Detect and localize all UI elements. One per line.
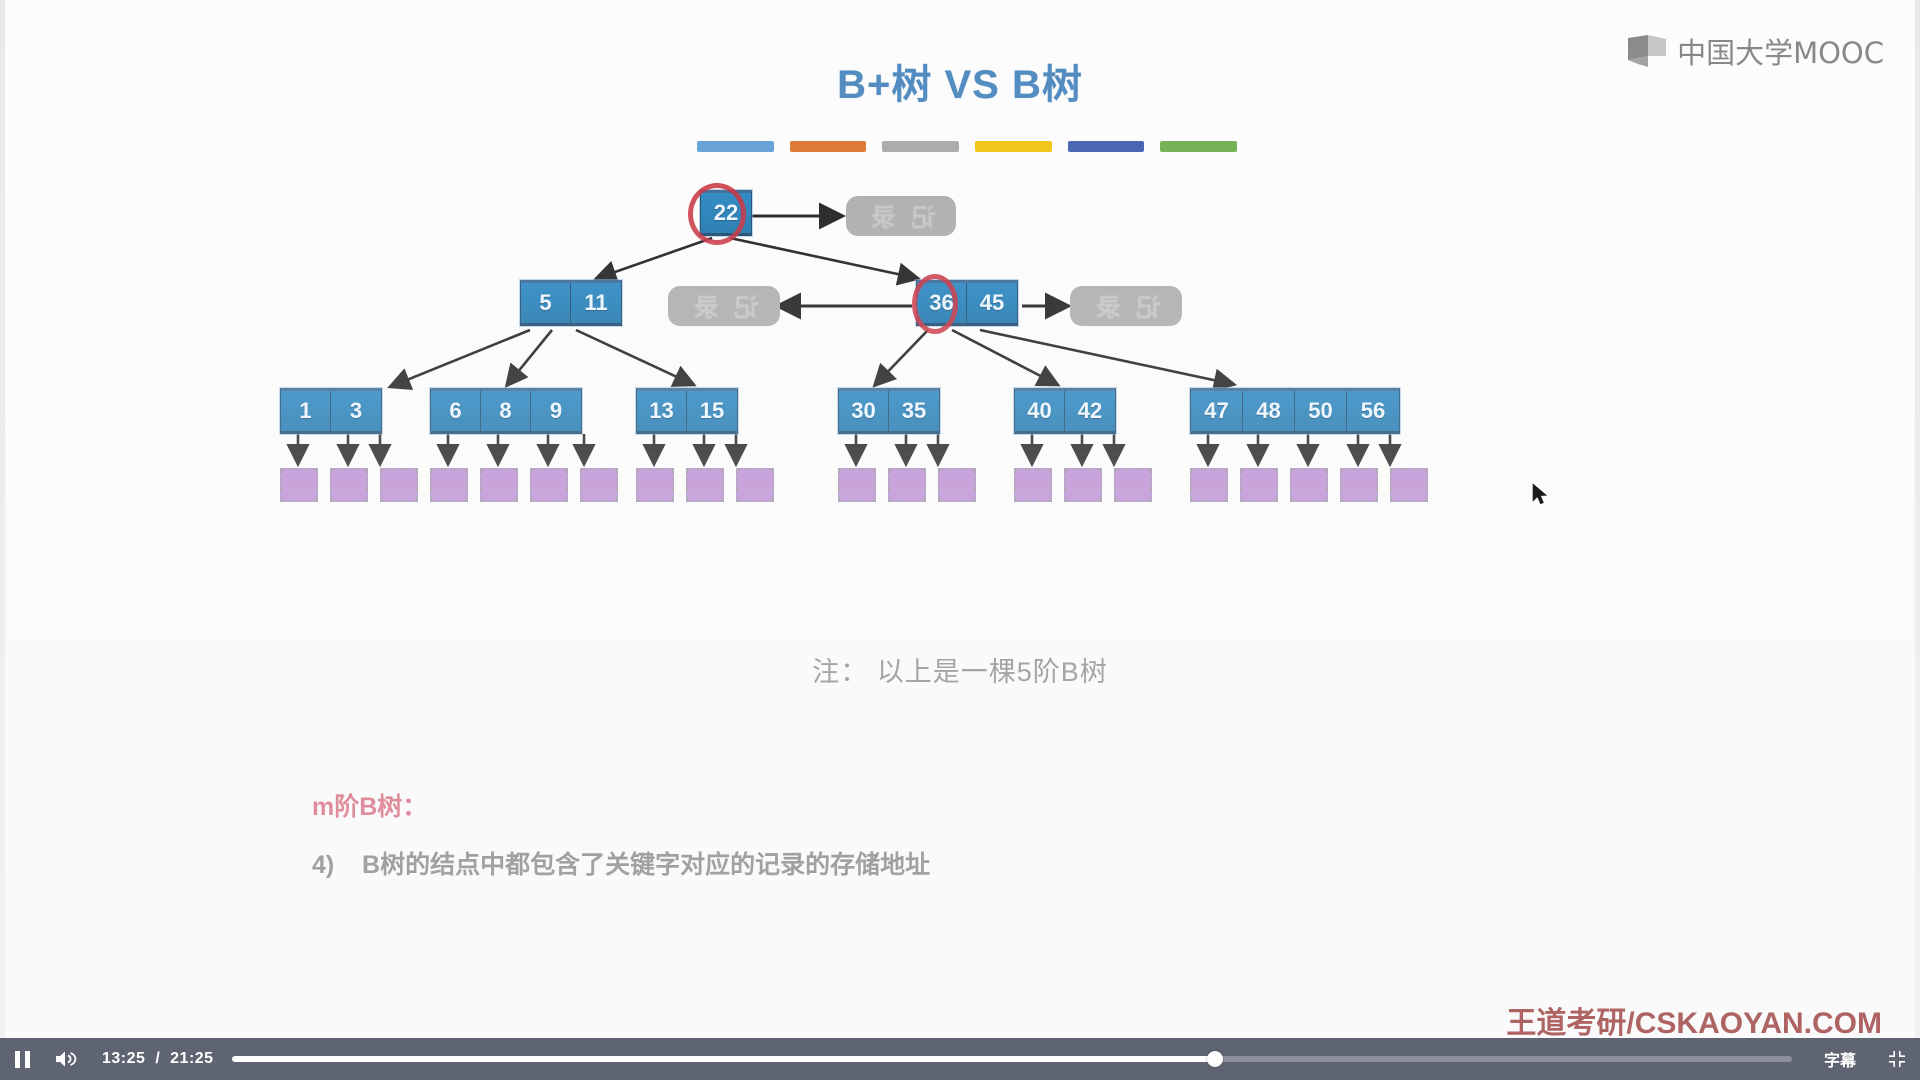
record-block bbox=[580, 468, 618, 502]
record-pill: 记 录 bbox=[846, 196, 956, 236]
record-pill: 记 录 bbox=[668, 286, 780, 326]
tree-key-cell: 5 bbox=[521, 283, 571, 323]
tree-key-cell: 35 bbox=[889, 391, 939, 431]
pause-icon bbox=[15, 1051, 30, 1068]
time-display: 13:25 / 21:25 bbox=[102, 1050, 214, 1068]
record-pill-label: 记 录 bbox=[867, 198, 936, 234]
tree-leaf-node[interactable]: 13 15 bbox=[636, 388, 738, 434]
record-pill-label: 记 录 bbox=[690, 288, 759, 324]
annotation-circle-36 bbox=[912, 274, 958, 334]
tree-key-cell: 8 bbox=[481, 391, 531, 431]
progress-fill bbox=[232, 1056, 1215, 1062]
record-block bbox=[838, 468, 876, 502]
volume-icon bbox=[55, 1050, 77, 1068]
accent-bar-3 bbox=[882, 141, 959, 152]
slide-right-edge bbox=[1915, 0, 1920, 1038]
annotation-circle-root bbox=[688, 183, 746, 245]
record-block bbox=[1114, 468, 1152, 502]
record-block bbox=[480, 468, 518, 502]
tree-key-cell: 30 bbox=[839, 391, 889, 431]
tree-leaf-node[interactable]: 30 35 bbox=[838, 388, 940, 434]
b-tree-diagram: 22 5 11 36 45 1 3 6 8 9 bbox=[280, 190, 1520, 630]
tree-key-cell: 3 bbox=[331, 391, 381, 431]
progress-bar[interactable] bbox=[232, 1056, 1792, 1062]
tree-key-cell: 9 bbox=[531, 391, 581, 431]
tree-key-cell: 47 bbox=[1191, 391, 1243, 431]
mooc-logo-text: 中国大学MOOC bbox=[1677, 30, 1884, 72]
record-block bbox=[736, 468, 774, 502]
tree-key-cell: 50 bbox=[1295, 391, 1347, 431]
slide-surface: B+树 VS B树 中国大学MOOC bbox=[0, 0, 1920, 1038]
record-block bbox=[380, 468, 418, 502]
tree-key-cell: 15 bbox=[687, 391, 737, 431]
pause-button[interactable] bbox=[0, 1038, 44, 1080]
tree-leaf-node[interactable]: 40 42 bbox=[1014, 388, 1116, 434]
accent-bar-6 bbox=[1160, 141, 1237, 152]
record-block bbox=[1340, 468, 1378, 502]
exit-fullscreen-button[interactable] bbox=[1874, 1038, 1920, 1080]
record-block bbox=[280, 468, 318, 502]
tree-key-cell: 42 bbox=[1065, 391, 1115, 431]
mouse-cursor-icon bbox=[1532, 483, 1550, 507]
record-block bbox=[1390, 468, 1428, 502]
record-pill: 记 录 bbox=[1070, 286, 1182, 326]
tree-key-cell: 45 bbox=[967, 283, 1017, 323]
bullet-item-4: 4) B树的结点中都包含了关键字对应的记录的存储地址 bbox=[312, 845, 930, 881]
record-block bbox=[636, 468, 674, 502]
mooc-logo: 中国大学MOOC bbox=[1626, 30, 1884, 72]
record-pill-label: 记 录 bbox=[1092, 288, 1161, 324]
accent-bar-4 bbox=[975, 141, 1052, 152]
tree-key-cell: 11 bbox=[571, 283, 621, 323]
record-block bbox=[938, 468, 976, 502]
record-block bbox=[686, 468, 724, 502]
record-block bbox=[1064, 468, 1102, 502]
record-block bbox=[888, 468, 926, 502]
video-player-screen: B+树 VS B树 中国大学MOOC bbox=[0, 0, 1920, 1080]
mooc-flag-icon bbox=[1626, 34, 1668, 68]
accent-bar-2 bbox=[790, 141, 867, 152]
accent-bar-5 bbox=[1068, 141, 1145, 152]
record-block bbox=[530, 468, 568, 502]
section-heading: m阶B树： bbox=[312, 787, 427, 823]
record-block bbox=[1240, 468, 1278, 502]
record-block bbox=[1190, 468, 1228, 502]
record-block bbox=[1014, 468, 1052, 502]
subtitles-button[interactable]: 字幕 bbox=[1806, 1047, 1874, 1071]
diagram-note: 注： 以上是一棵5阶B树 bbox=[0, 650, 1920, 689]
slide-left-edge bbox=[0, 0, 5, 1038]
record-block bbox=[1290, 468, 1328, 502]
title-accent-bars bbox=[697, 141, 1237, 153]
tree-key-cell: 48 bbox=[1243, 391, 1295, 431]
volume-button[interactable] bbox=[44, 1038, 88, 1080]
tree-node-left[interactable]: 5 11 bbox=[520, 280, 622, 326]
tree-key-cell: 40 bbox=[1015, 391, 1065, 431]
accent-bar-1 bbox=[697, 141, 774, 152]
record-block bbox=[430, 468, 468, 502]
tree-leaf-node[interactable]: 6 8 9 bbox=[430, 388, 582, 434]
record-block bbox=[330, 468, 368, 502]
tree-leaf-node[interactable]: 1 3 bbox=[280, 388, 382, 434]
tree-key-cell: 1 bbox=[281, 391, 331, 431]
tree-key-cell: 56 bbox=[1347, 391, 1399, 431]
video-player-controls: 13:25 / 21:25 字幕 bbox=[0, 1038, 1920, 1080]
tree-leaf-node[interactable]: 47 48 50 56 bbox=[1190, 388, 1400, 434]
tree-key-cell: 13 bbox=[637, 391, 687, 431]
progress-handle[interactable] bbox=[1207, 1051, 1223, 1067]
watermark: 王道考研/CSKAOYAN.COM bbox=[1506, 998, 1882, 1042]
tree-key-cell: 6 bbox=[431, 391, 481, 431]
exit-fullscreen-icon bbox=[1887, 1049, 1907, 1069]
